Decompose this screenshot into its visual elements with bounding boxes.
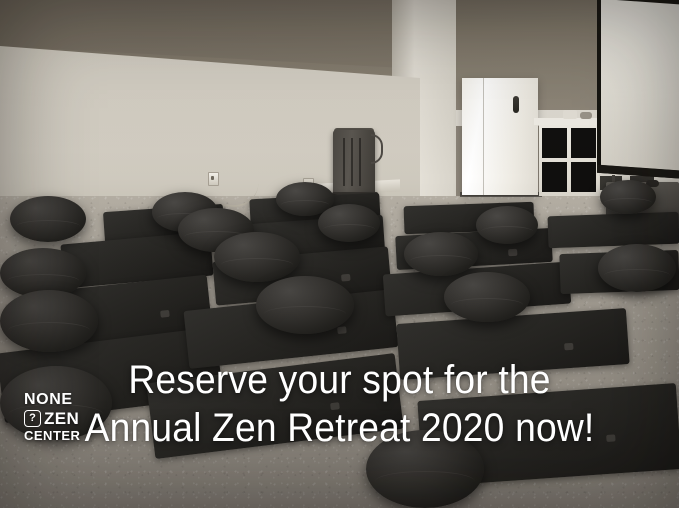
meditation-cushion	[598, 244, 676, 292]
meditation-mat	[547, 212, 679, 249]
meditation-cushion	[256, 276, 354, 334]
white-cabinet	[462, 78, 538, 195]
logo-line-center: CENTER	[24, 429, 90, 442]
mat-label-tag	[564, 343, 573, 351]
meditation-cushion	[404, 232, 478, 276]
banner-image: Reserve your spot for the Annual Zen Ret…	[0, 0, 679, 508]
headline-line-1: Reserve your spot for the	[24, 356, 655, 404]
logo-middle-row: ? ZEN	[24, 410, 90, 427]
meditation-cushion	[0, 290, 98, 352]
shelf-object-box	[563, 110, 577, 119]
meditation-cushion	[318, 204, 380, 242]
meditation-cushion	[10, 196, 86, 242]
headline-overlay: Reserve your spot for the Annual Zen Ret…	[24, 356, 655, 452]
shelf-object-bowl	[580, 112, 592, 119]
zen-center-logo[interactable]: NONE ? ZEN CENTER	[24, 392, 90, 442]
wall-outlet-socket	[211, 176, 214, 180]
question-mark-icon: ?	[24, 410, 41, 427]
mat-label-tag	[337, 326, 347, 334]
shelf-top-surface	[534, 118, 604, 125]
headline-line-2: Annual Zen Retreat 2020 now!	[24, 404, 655, 452]
cabinet-handle	[513, 96, 519, 113]
mat-label-tag	[160, 310, 170, 318]
mat-label-tag	[341, 274, 351, 282]
meditation-cushion	[444, 272, 530, 322]
meditation-cushion	[214, 232, 300, 282]
meditation-cushion	[476, 206, 538, 244]
cabinet-door-seam	[483, 78, 484, 195]
logo-line-zen: ZEN	[44, 410, 79, 427]
logo-line-none: NONE	[24, 392, 90, 408]
projector-screen	[601, 0, 679, 171]
mat-label-tag	[508, 249, 517, 256]
portable-radiator	[333, 130, 375, 196]
meditation-cushion	[600, 180, 656, 214]
cube-shelving	[539, 124, 599, 196]
